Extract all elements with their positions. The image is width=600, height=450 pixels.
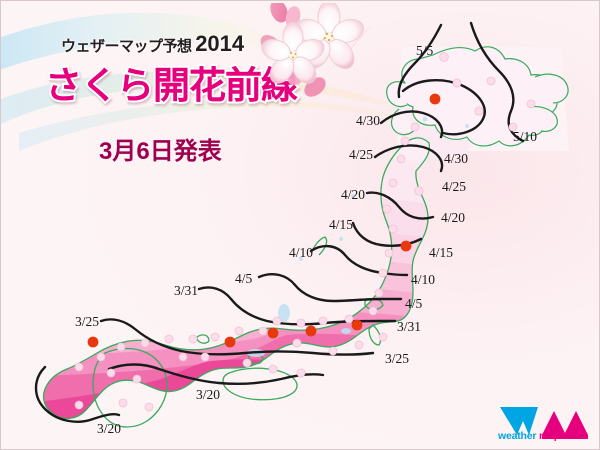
weather-map-logo-text: weather map (498, 430, 590, 442)
city-dot-fukuoka (88, 337, 99, 348)
front-date-label-left-1: 4/25 (349, 147, 373, 163)
bloom-bands-main (1, 121, 600, 450)
front-date-label-right-7: 4/5 (405, 296, 422, 312)
city-dot-hiroshima (225, 337, 236, 348)
logo-word-map: map (539, 430, 560, 442)
front-date-label-left-0: 4/30 (356, 113, 380, 129)
logo-word-weather: weather (498, 430, 536, 442)
city-dot-sapporo (430, 94, 441, 105)
front-date-label-right-0: 5/5 (416, 43, 433, 59)
front-date-label-left-2: 4/20 (341, 187, 365, 203)
front-date-label-right-8: 3/31 (397, 319, 421, 335)
front-date-label-right-1: 5/10 (513, 129, 537, 145)
city-dot-osaka (268, 328, 279, 339)
front-date-label-right-2: 4/30 (444, 151, 468, 167)
cherry-blossom-forecast-poster: ウェザーマップ予想 2014 さくら開花前線 さくら開花前線 3月6日発表 (0, 0, 600, 450)
front-date-label-right-9: 3/25 (385, 351, 409, 367)
front-date-label-right-6: 4/10 (411, 272, 435, 288)
front-date-label-right-3: 4/25 (442, 179, 466, 195)
front-date-label-left-8: 3/20 (97, 421, 121, 437)
front-date-label-left-7: 3/25 (75, 314, 99, 330)
front-date-label-left-5: 4/5 (235, 271, 252, 287)
front-date-label-right-5: 4/15 (429, 245, 453, 261)
city-dot-nagoya (306, 326, 317, 337)
front-date-label-left-3: 4/15 (329, 217, 353, 233)
front-date-label-left-4: 4/10 (289, 245, 313, 261)
city-dot-sendai (401, 241, 412, 252)
japan-map (1, 1, 600, 450)
front-date-label-right-4: 4/20 (441, 210, 465, 226)
city-dot-tokyo (352, 320, 363, 331)
front-date-label-right-10: 3/20 (196, 387, 220, 403)
front-date-label-left-6: 3/31 (174, 283, 198, 299)
